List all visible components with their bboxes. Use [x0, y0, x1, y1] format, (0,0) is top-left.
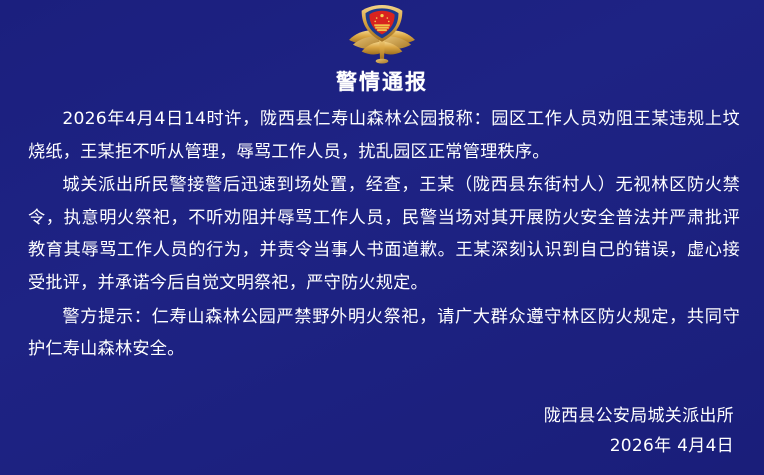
notice-body: 2026年4月4日14时许，陇西县仁寿山森林公园报称：园区工作人员劝阻王某违规上… — [28, 103, 740, 367]
notice-paragraph: 城关派出所民警接警后迅速到场处置，经查，王某（陇西县东街村人）无视林区防火禁令，… — [28, 169, 740, 299]
issue-date: 2026年 4月4日 — [544, 431, 734, 461]
emblem-container — [0, 3, 764, 65]
notice-paragraph: 2026年4月4日14时许，陇西县仁寿山森林公园报称：园区工作人员劝阻王某违规上… — [28, 103, 740, 168]
signature-block: 陇西县公安局城关派出所 2026年 4月4日 — [544, 401, 734, 461]
page-title: 警情通报 — [0, 66, 764, 96]
issuing-organization: 陇西县公安局城关派出所 — [544, 401, 734, 431]
police-notice-poster: 警情通报 2026年4月4日14时许，陇西县仁寿山森林公园报称：园区工作人员劝阻… — [0, 0, 764, 475]
china-police-badge-icon — [343, 3, 421, 65]
notice-paragraph: 警方提示：仁寿山森林公园严禁野外明火祭祀，请广大群众遵守林区防火规定，共同守护仁… — [28, 301, 740, 366]
